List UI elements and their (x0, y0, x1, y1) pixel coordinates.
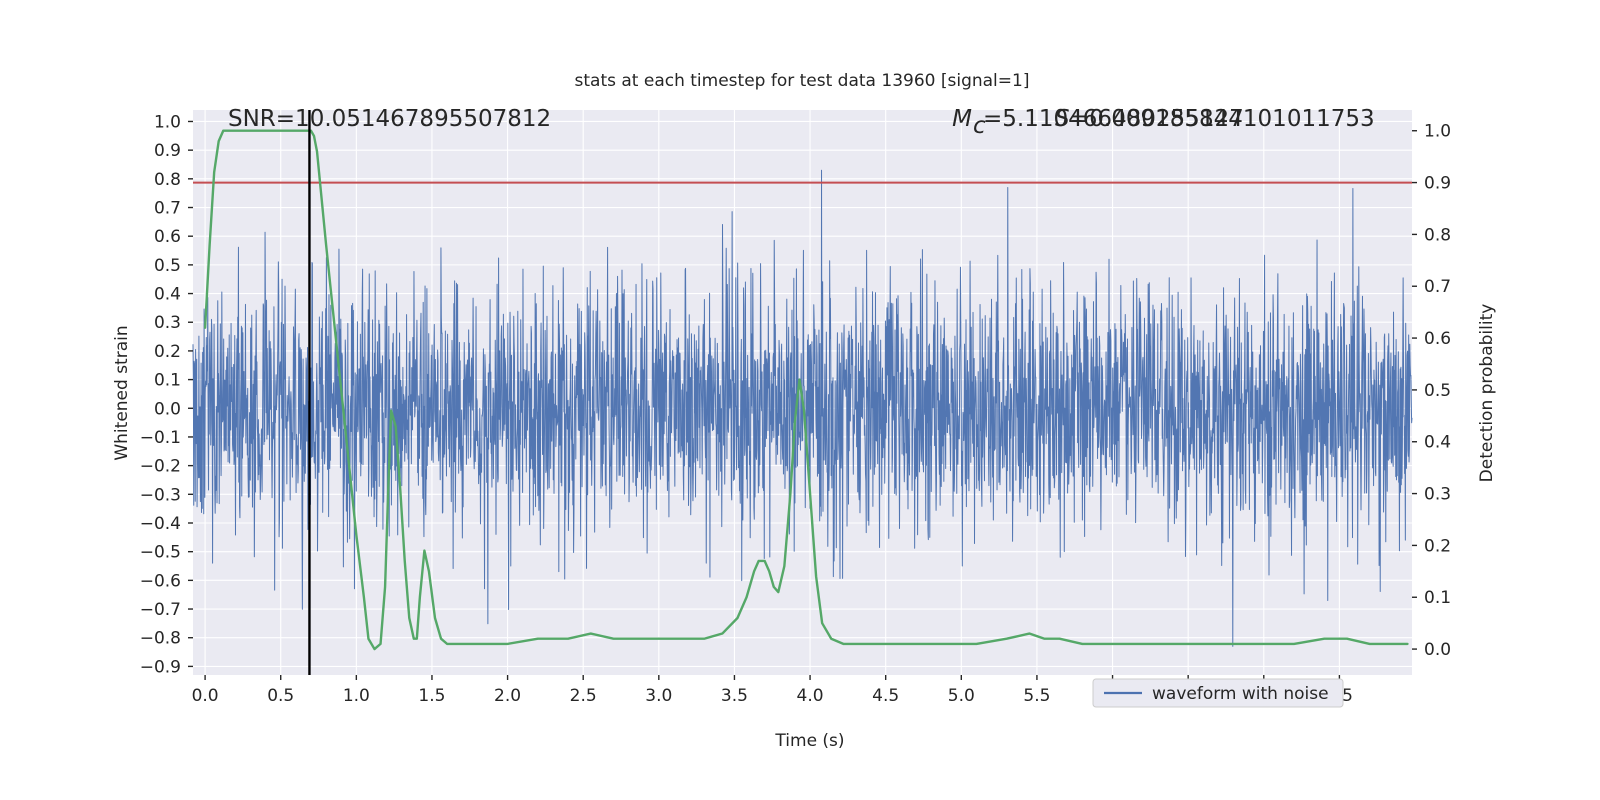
x-tick-label: 0.0 (192, 686, 219, 706)
y-tick-label-left: 0.8 (154, 170, 181, 190)
legend[interactable]: waveform with noise (1093, 679, 1343, 707)
y-axis-left-label: Whitened strain (112, 325, 132, 460)
y-tick-label-left: 0.2 (154, 342, 181, 362)
y-tick-label-left: −0.2 (140, 457, 181, 477)
annotation-snr: SNR=10.051467895507812 (228, 106, 551, 132)
x-tick-label: 4.0 (797, 686, 824, 706)
y-tick-label-left: 0.3 (154, 313, 181, 333)
y-tick-label-right: 0.9 (1424, 174, 1451, 194)
y-tick-label-left: 0.1 (154, 371, 181, 391)
y-tick-label-right: 0.5 (1424, 381, 1451, 401)
y-tick-label-left: 0.4 (154, 285, 181, 305)
matplotlib-figure: 0.00.51.01.52.02.53.03.54.04.55.05.56.06… (0, 0, 1600, 800)
x-tick-label: 3.5 (721, 686, 748, 706)
y-tick-label-left: 0.0 (154, 399, 181, 419)
y-tick-label-right: 0.7 (1424, 277, 1451, 297)
x-tick-label: 2.5 (570, 686, 597, 706)
x-tick-label: 2.0 (494, 686, 521, 706)
y-tick-label-right: 0.4 (1424, 433, 1451, 453)
annotation-s-symbol: S (1055, 106, 1070, 132)
x-tick-label: 3.0 (645, 686, 672, 706)
y-tick-label-left: −0.5 (140, 543, 181, 563)
annotation-s: S =0.009185844101011753 (1055, 106, 1375, 132)
chart-title: stats at each timestep for test data 139… (575, 71, 1030, 91)
y-tick-label-right: 0.8 (1424, 225, 1451, 245)
chart-canvas: 0.00.51.01.52.02.53.03.54.04.55.05.56.06… (0, 0, 1600, 800)
y-tick-label-left: −0.4 (140, 514, 181, 534)
x-tick-label: 0.5 (267, 686, 294, 706)
y-tick-label-left: −0.9 (140, 657, 181, 677)
x-tick-label: 5.0 (948, 686, 975, 706)
y-tick-label-left: −0.6 (140, 571, 181, 591)
y-tick-label-left: 0.6 (154, 227, 181, 247)
y-tick-label-left: −0.3 (140, 485, 181, 505)
x-tick-label: 4.5 (872, 686, 899, 706)
y-tick-label-left: 0.5 (154, 256, 181, 276)
x-tick-label: 1.0 (343, 686, 370, 706)
annotation-s-value: =0.009185844101011753 (1070, 106, 1375, 132)
x-axis-label: Time (s) (774, 731, 844, 751)
y-tick-label-left: 1.0 (154, 112, 181, 132)
y-tick-label-right: 0.3 (1424, 485, 1451, 505)
y-tick-label-right: 1.0 (1424, 122, 1451, 142)
y-tick-label-right: 0.2 (1424, 536, 1451, 556)
y-tick-label-right: 0.0 (1424, 640, 1451, 660)
y-axis-right-label: Detection probability (1477, 304, 1497, 483)
legend-label-waveform-with-noise: waveform with noise (1152, 684, 1329, 704)
y-tick-label-right: 0.6 (1424, 329, 1451, 349)
y-tick-label-left: −0.7 (140, 600, 181, 620)
annotation-mc-symbol: M (952, 106, 972, 132)
x-tick-label: 1.5 (418, 686, 445, 706)
y-tick-label-right: 0.1 (1424, 588, 1451, 608)
y-tick-label-left: −0.8 (140, 629, 181, 649)
y-tick-label-left: 0.7 (154, 199, 181, 219)
x-tick-label: 5.5 (1023, 686, 1050, 706)
y-tick-label-left: −0.1 (140, 428, 181, 448)
y-tick-label-left: 0.9 (154, 141, 181, 161)
